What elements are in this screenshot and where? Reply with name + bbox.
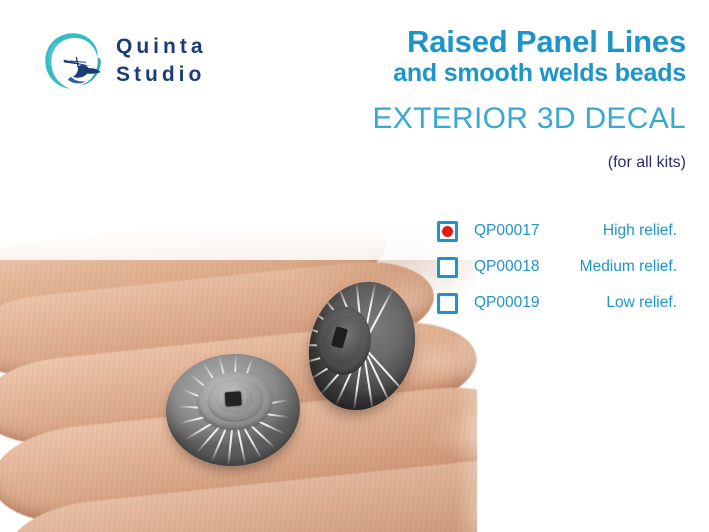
tread-line: [178, 405, 234, 411]
tread-line: [309, 309, 363, 347]
tread-line: [319, 346, 363, 396]
front-wheel-light-gray: [162, 349, 303, 470]
axle-hole: [225, 391, 242, 406]
tread-lines: [294, 269, 430, 423]
tread-line: [185, 409, 234, 439]
tread-line: [298, 344, 363, 347]
tread-line: [233, 410, 246, 465]
product-type-label: EXTERIOR 3D DECAL: [304, 101, 686, 137]
selected-dot-icon: [442, 226, 453, 237]
tread-line: [233, 409, 275, 448]
tread-line: [233, 410, 262, 460]
finger: [0, 379, 535, 531]
hub-mid: [205, 377, 264, 424]
tread-line: [300, 345, 363, 364]
tread-line: [179, 409, 234, 424]
rear-wheel-dark-gray: [294, 269, 430, 423]
hub-inner: [317, 311, 369, 369]
tread-line: [234, 399, 289, 410]
tread-line: [362, 288, 394, 346]
option-code: QP00017: [474, 222, 558, 240]
axle-hole: [331, 326, 348, 348]
tread-line: [211, 410, 235, 462]
finger: [0, 255, 438, 384]
tire: [294, 269, 430, 423]
hub-outer: [196, 369, 275, 432]
finger: [2, 452, 570, 532]
tread-line: [233, 357, 254, 410]
option-description: High relief.: [558, 222, 677, 240]
option-description: Medium relief.: [558, 258, 677, 276]
brand-name-line-1: Quinta: [116, 36, 207, 58]
option-row-qp00019[interactable]: QP00019 Low relief.: [437, 285, 677, 321]
option-row-qp00017[interactable]: QP00017 High relief.: [437, 213, 677, 249]
tread-line: [338, 286, 364, 347]
tread-line: [227, 410, 234, 466]
relief-options-list: QP00017 High relief. QP00018 Medium reli…: [437, 213, 677, 321]
quinta-q-swoosh-jet-logo: [40, 28, 106, 94]
option-row-qp00018[interactable]: QP00018 Medium relief.: [437, 249, 677, 285]
tread-line: [362, 282, 376, 346]
tread-line: [301, 325, 363, 347]
tread-line: [234, 409, 290, 418]
finger: [0, 205, 390, 322]
product-card: Quinta Studio Raised Panel Lines and smo…: [0, 0, 709, 532]
tread-line: [233, 409, 284, 434]
option-description: Low relief.: [558, 294, 677, 312]
checkbox-qp00017[interactable]: [437, 221, 458, 242]
brand-logo[interactable]: Quinta Studio: [40, 28, 207, 94]
tread-line: [190, 374, 234, 411]
tread-line: [362, 346, 407, 395]
tread-line: [203, 363, 235, 411]
checkbox-qp00019[interactable]: [437, 293, 458, 314]
product-title-line-2: and smooth welds beads: [304, 59, 686, 89]
tread-line: [307, 346, 363, 382]
finger: [0, 314, 481, 452]
compatibility-note: (for all kits): [304, 153, 686, 172]
tread-line: [196, 409, 234, 452]
tread-line: [322, 295, 364, 347]
product-title-line-1: Raised Panel Lines: [304, 26, 686, 58]
option-code: QP00018: [474, 258, 558, 276]
tread-line: [362, 346, 391, 405]
title-block: Raised Panel Lines and smooth welds bead…: [304, 26, 686, 172]
checkbox-qp00018[interactable]: [437, 257, 458, 278]
tread-line: [362, 346, 373, 410]
tread-line: [335, 346, 364, 406]
option-code: QP00019: [474, 294, 558, 312]
hub-inner: [215, 384, 254, 416]
brand-name-line-2: Studio: [116, 64, 207, 86]
white-fade-right: [455, 300, 595, 532]
tread-line: [181, 388, 234, 410]
tread-line: [356, 281, 364, 346]
tire: [162, 349, 303, 470]
tread-line: [233, 354, 237, 410]
tread-line: [353, 346, 364, 411]
tread-lines: [162, 349, 303, 470]
tread-line: [218, 356, 234, 410]
hub-outer: [315, 305, 374, 376]
